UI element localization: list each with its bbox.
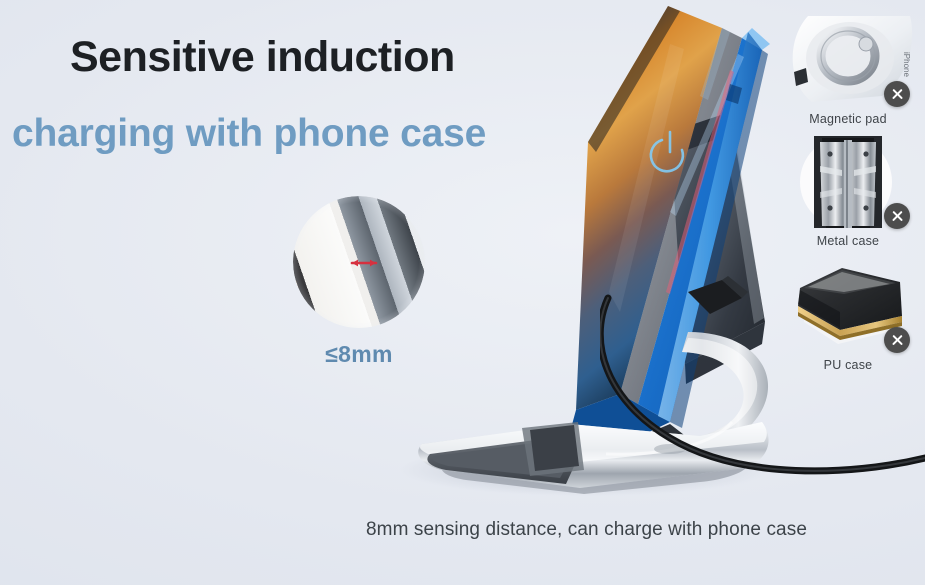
bottom-caption: 8mm sensing distance, can charge with ph… — [366, 519, 807, 541]
list-item-label: PU case — [778, 358, 918, 372]
pu-leather-case-icon — [778, 260, 918, 355]
magnifier-circle — [293, 196, 425, 328]
list-item[interactable]: iPhone Magnetic pad — [778, 14, 918, 126]
magnifier-label: ≤8mm — [293, 341, 425, 368]
x-badge — [884, 203, 910, 229]
magnetic-ring-holder-icon: iPhone — [778, 14, 918, 109]
list-item[interactable]: Metal case — [778, 136, 918, 248]
list-item-label: Metal case — [778, 234, 918, 248]
x-badge — [884, 327, 910, 353]
incompatible-cases-list: iPhone Magnetic pad — [778, 14, 918, 378]
magnifier-callout — [293, 196, 425, 328]
metal-armor-case-icon — [778, 136, 918, 231]
promo-banner: Sensitive induction charging with phone … — [0, 0, 925, 585]
list-item[interactable]: PU case — [778, 260, 918, 372]
red-measure-arrow — [349, 258, 379, 268]
svg-text:iPhone: iPhone — [902, 52, 911, 77]
list-item-label: Magnetic pad — [778, 112, 918, 126]
x-badge — [884, 81, 910, 107]
